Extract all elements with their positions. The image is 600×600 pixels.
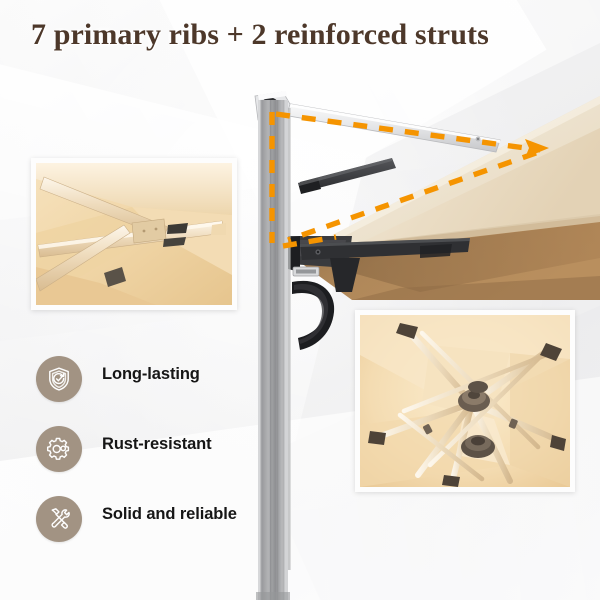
gear-icon <box>36 426 82 472</box>
hammer-wrench-icon <box>36 496 82 542</box>
inset-rib-joint-closeup <box>31 158 237 310</box>
shield-check-icon <box>36 356 82 402</box>
rib-joint-photo <box>36 163 232 305</box>
pole-foot <box>256 592 290 600</box>
feature-list: Long-lasting Rust-resistant <box>36 356 276 566</box>
reinforced-strut <box>298 158 396 194</box>
feature-label: Rust-resistant <box>102 435 212 454</box>
feature-label: Solid and reliable <box>102 505 237 524</box>
product-feature-image: 7 primary ribs + 2 reinforced struts Lon… <box>0 0 600 600</box>
feature-item-long-lasting: Long-lasting <box>36 356 276 426</box>
feature-item-solid-and-reliable: Solid and reliable <box>36 496 276 566</box>
page-title: 7 primary ribs + 2 reinforced struts <box>31 18 489 52</box>
feature-label: Long-lasting <box>102 365 200 384</box>
canopy-underside-photo <box>360 315 570 487</box>
inset-canopy-underside <box>355 310 575 492</box>
feature-item-rust-resistant: Rust-resistant <box>36 426 276 496</box>
annotation-top-diagonal <box>276 114 540 150</box>
